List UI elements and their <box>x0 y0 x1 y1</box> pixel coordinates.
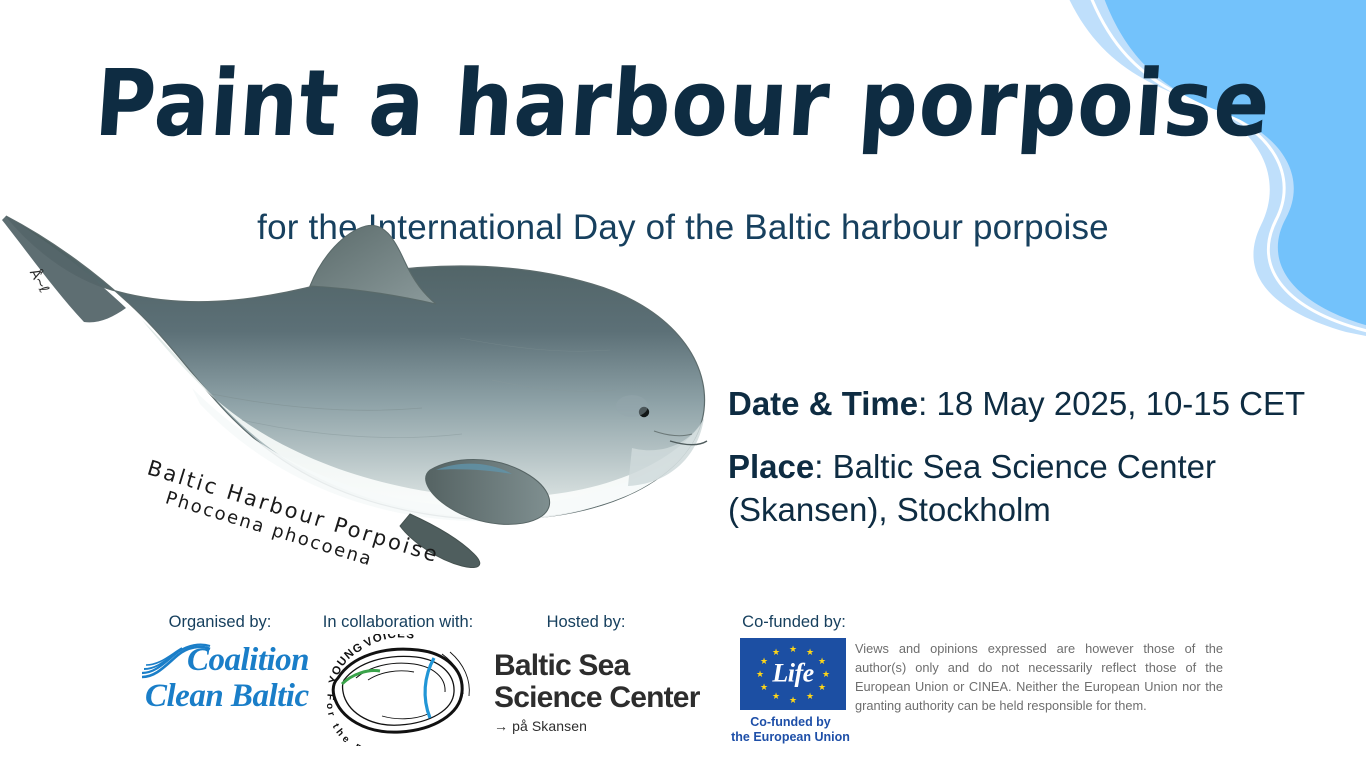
porpoise-body <box>2 216 707 568</box>
svg-text:★: ★ <box>789 644 797 654</box>
label-co-funded-by: Co-funded by: <box>740 613 848 632</box>
page-title: Paint a harbour porpoise <box>0 57 1366 153</box>
eu-life-wordmark: Life <box>740 658 846 688</box>
svg-text:★: ★ <box>806 647 814 657</box>
svg-text:★: ★ <box>772 691 780 701</box>
logo-coalition-clean-baltic[interactable]: Coalition Clean Baltic <box>145 643 320 714</box>
svg-text:★: ★ <box>789 695 797 705</box>
eu-caption-line1: Co-funded by <box>731 715 850 730</box>
eu-flag: ★ ★ ★ ★ ★ ★ ★ ★ ★ ★ ★ ★ Life <box>740 638 846 710</box>
detail-place-separator: : <box>814 448 832 485</box>
bssc-logo-line1: Baltic Sea <box>494 650 734 682</box>
detail-date-time-value: 18 May 2025, 10-15 CET <box>936 385 1305 422</box>
logo-eu-life-cofunded[interactable]: ★ ★ ★ ★ ★ ★ ★ ★ ★ ★ ★ ★ Life Co-funded b… <box>740 638 850 746</box>
logo-young-voices-mussel[interactable]: YOUNG VOICES For the Baltic Sea <box>322 634 474 746</box>
eu-caption-line2: the European Union <box>731 730 850 745</box>
event-details: Date & Time: 18 May 2025, 10-15 CET Plac… <box>728 382 1353 551</box>
mussel-shell-outline <box>333 649 462 732</box>
eu-funding-disclaimer: Views and opinions expressed are however… <box>855 640 1223 716</box>
detail-date-time: Date & Time: 18 May 2025, 10-15 CET <box>728 382 1353 426</box>
detail-date-time-separator: : <box>918 385 936 422</box>
poster-canvas: Paint a harbour porpoise for the Interna… <box>0 0 1366 768</box>
detail-place: Place: Baltic Sea Science Center (Skanse… <box>728 445 1353 532</box>
label-in-collaboration-with: In collaboration with: <box>318 613 478 632</box>
ccb-wave-icon <box>140 643 212 687</box>
bssc-logo-line2: Science Center <box>494 682 734 714</box>
bssc-logo-subtitle: → på Skansen <box>494 718 734 734</box>
detail-place-label: Place <box>728 448 814 485</box>
detail-date-time-label: Date & Time <box>728 385 918 422</box>
logo-baltic-sea-science-center[interactable]: Baltic Sea Science Center → på Skansen <box>494 650 734 734</box>
svg-text:★: ★ <box>806 691 814 701</box>
young-voices-word2: VOICES <box>362 634 416 650</box>
svg-text:★: ★ <box>772 647 780 657</box>
label-hosted-by: Hosted by: <box>513 613 659 632</box>
label-organised-by: Organised by: <box>145 613 295 632</box>
harbour-porpoise-illustration <box>0 198 732 568</box>
